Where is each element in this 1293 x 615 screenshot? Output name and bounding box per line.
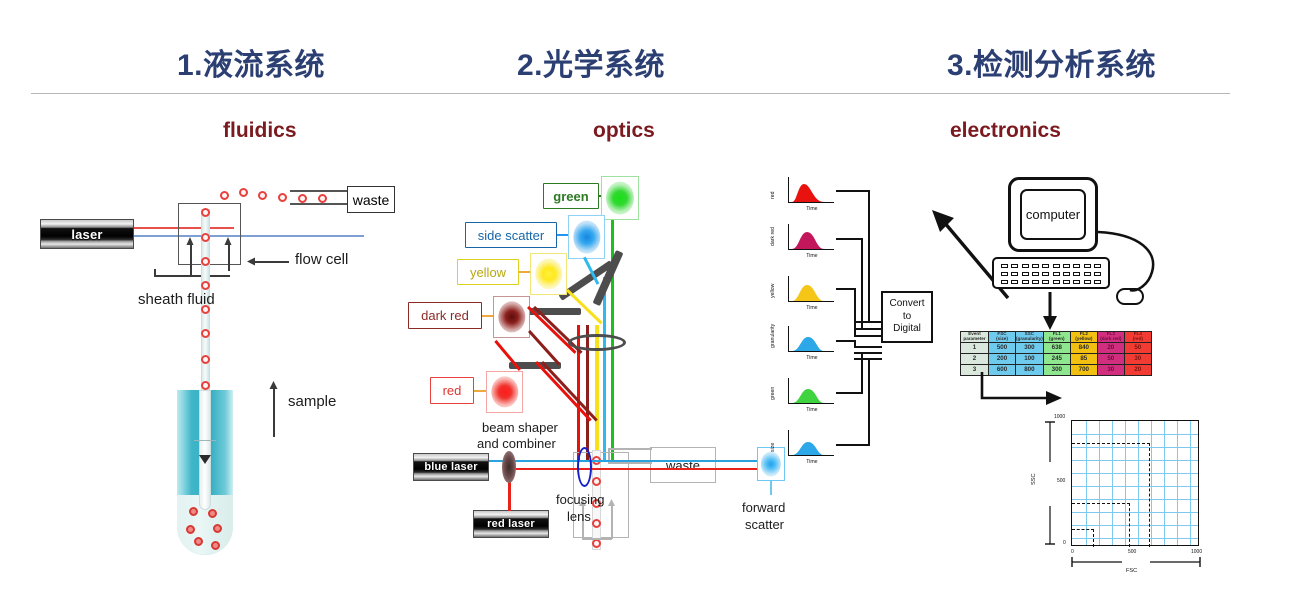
trace-peak — [791, 229, 825, 249]
computer-label: computer — [1026, 207, 1080, 222]
convert-to-digital-box: Convert to Digital — [881, 291, 933, 343]
table-header-row: Event parameter FSC (size) SSC (granular… — [961, 332, 1152, 343]
electronics-diagram: red Time dark red Time yellow Time — [780, 160, 1293, 610]
trace-peak — [791, 435, 825, 455]
y-tick-500: 500 — [1057, 478, 1065, 484]
x-axis-label: FSC — [1126, 568, 1137, 574]
detector-label-dark-red-text: dark red — [421, 308, 469, 323]
trace-peak — [791, 331, 825, 351]
collection-lens — [568, 334, 626, 351]
stream-cell — [201, 281, 210, 290]
bus-wire-2-v — [861, 238, 863, 328]
stream-cell — [201, 355, 210, 364]
event-parameter-table: Event parameter FSC (size) SSC (granular… — [960, 331, 1152, 376]
table-header-cell: FSC (size) — [989, 332, 1016, 343]
scatter-plot-group: 1000 500 0 SSC 0 500 1000 FSC — [1028, 410, 1228, 610]
trace-y-label: size — [770, 443, 776, 452]
table-header-cell: Event parameter — [961, 332, 989, 343]
x-tick-500: 500 — [1128, 549, 1136, 555]
sample-cell — [211, 541, 220, 550]
scatter-plot-area — [1071, 420, 1199, 546]
table-cell: 1 — [961, 343, 989, 354]
trace-x-label: Time — [806, 407, 817, 413]
subtitle-optics: optics — [593, 119, 655, 143]
trace-y-label: dark red — [770, 227, 776, 246]
y-axis-label: SSC — [1031, 473, 1037, 485]
detector-dark-red[interactable] — [493, 296, 530, 338]
table-cell: 200 — [989, 354, 1016, 365]
waste-cell — [298, 194, 307, 203]
focusing-lens — [577, 447, 592, 487]
table-cell: 245 — [1043, 354, 1070, 365]
table-header-cell: FL1 (green) — [1043, 332, 1070, 343]
table-row: 1 500 300 638 840 20 50 — [961, 343, 1152, 354]
signal-trace-green: green Time — [788, 378, 834, 404]
header-line: (green) — [1049, 336, 1065, 341]
subtitle-fluidics: fluidics — [223, 119, 297, 143]
bus-wire-into-converter-5 — [854, 352, 882, 354]
detector-label-green-text: green — [553, 189, 588, 204]
stream-cell — [201, 208, 210, 217]
sample-cell — [194, 537, 203, 546]
detector-label-dark-red[interactable]: dark red — [408, 302, 482, 329]
sample-cell — [208, 509, 217, 518]
waste-tube-bottom — [290, 203, 348, 205]
sample-arrow-head — [268, 381, 280, 392]
detector-label-yellow-text: yellow — [470, 265, 506, 280]
table-cell: 30 — [1124, 354, 1151, 365]
optics-stream-cell — [592, 477, 601, 486]
sample-cell — [213, 524, 222, 533]
table-header-cell: FL2 (yellow) — [1070, 332, 1097, 343]
trace-peak — [791, 383, 825, 403]
table-cell: 2 — [961, 354, 989, 365]
gate-region-small[interactable] — [1072, 529, 1094, 547]
section-header-electronics-zh: 3.检测分析系统 — [947, 40, 1156, 84]
trace-x-label: Time — [806, 253, 817, 259]
detector-red[interactable] — [486, 371, 523, 413]
detector-yellow[interactable] — [530, 253, 567, 295]
detector-green[interactable] — [601, 176, 639, 220]
table-header-cell: FL4 (red) — [1124, 332, 1151, 343]
grid-line-v — [1151, 421, 1152, 545]
waste-cell — [220, 191, 229, 200]
stream-cell — [201, 233, 210, 242]
header-line: (yellow) — [1075, 336, 1092, 341]
mouse-cable — [1096, 230, 1166, 296]
trace-x-axis — [788, 202, 834, 203]
fluidics-diagram: laser — [30, 165, 430, 610]
signal-trace-dark-red: dark red Time — [788, 224, 834, 250]
optics-sheath-bottom — [582, 538, 612, 540]
trace-y-axis — [788, 378, 789, 404]
waste-container: waste — [347, 186, 395, 213]
waste-cell — [318, 194, 327, 203]
optics-waste-pipe-top — [608, 448, 652, 450]
flow-cell-arrow-head — [247, 256, 259, 267]
trace-x-axis — [788, 249, 834, 250]
header-line: (dark red) — [1100, 336, 1121, 341]
table-cell: 85 — [1070, 354, 1097, 365]
keyboard-row — [1001, 272, 1101, 276]
blue-laser-beam — [489, 460, 761, 462]
trace-peak — [791, 182, 825, 202]
trace-peak — [791, 281, 825, 301]
header-line: (red) — [1133, 336, 1143, 341]
signal-trace-size: size Time — [788, 430, 834, 456]
table-header-cell: SSC (granularity) — [1016, 332, 1044, 343]
convert-line-1: Convert — [889, 298, 924, 311]
beam-path-cyan — [603, 277, 606, 461]
beam-red-ascending — [535, 361, 592, 422]
beam-shaper-label-line1: beam shaper — [482, 420, 558, 435]
section-header-optics-zh: 2.光学系统 — [517, 40, 665, 84]
bus-wire-into-converter-1 — [854, 321, 882, 323]
focusing-lens-label-line1: focusing — [556, 492, 604, 507]
y-tick-0: 0 — [1063, 540, 1066, 546]
optics-sheath-right — [611, 505, 613, 539]
stream-cell — [201, 329, 210, 338]
beam-shaper-label-line2: and combiner — [477, 436, 556, 451]
trace-y-label: green — [770, 387, 776, 400]
header-row: 1.液流系统 2.光学系统 3.检测分析系统 — [0, 40, 1293, 88]
table-cell: 50 — [1124, 343, 1151, 354]
y-axis-extent-bar — [1044, 418, 1056, 550]
probe-direction-arrow — [197, 454, 213, 466]
table-header-cell: FL3 (dark red) — [1097, 332, 1124, 343]
grid-line-v — [1164, 421, 1165, 545]
trace-y-label: yellow — [770, 284, 776, 298]
signal-trace-yellow: yellow Time — [788, 276, 834, 302]
x-tick-1000: 1000 — [1191, 549, 1202, 555]
trace-x-axis — [788, 455, 834, 456]
slide-canvas: 1.液流系统 2.光学系统 3.检测分析系统 fluidics optics e… — [0, 0, 1293, 615]
sample-pointer-line — [273, 387, 275, 437]
sheath-feed-stub — [154, 269, 156, 276]
grid-line-v — [1190, 421, 1191, 545]
table-cell: 30 — [1097, 365, 1124, 376]
trace-x-axis — [788, 403, 834, 404]
table-cell: 300 — [1016, 343, 1044, 354]
optics-waste-box: waste — [650, 447, 716, 483]
bus-wire-2 — [836, 238, 863, 240]
table-cell: 700 — [1070, 365, 1097, 376]
header-line: parameter — [963, 336, 985, 341]
bus-wire-6-v — [868, 358, 870, 446]
trace-x-label: Time — [806, 206, 817, 212]
waste-cell — [278, 193, 287, 202]
optics-stream-cell — [592, 519, 601, 528]
laser-beam-blue — [134, 235, 364, 237]
waste-tube-top — [290, 190, 348, 192]
header-line: (granularity) — [1016, 336, 1043, 341]
trace-y-label: granularity — [770, 324, 776, 348]
x-axis-extent-bar — [1068, 556, 1204, 568]
bus-wire-1-v — [868, 190, 870, 321]
table-cell: 20 — [1097, 343, 1124, 354]
forward-scatter-connector — [770, 481, 772, 495]
detector-label-side-scatter-text: side scatter — [478, 228, 544, 243]
blue-laser-source: blue laser — [413, 453, 489, 481]
waste-cell — [239, 188, 248, 197]
bus-wire-4 — [836, 340, 856, 342]
stream-cell — [201, 381, 210, 390]
beam-darkred-ascending — [541, 361, 598, 422]
forward-scatter-label-line1: forward — [742, 500, 785, 515]
trace-y-axis — [788, 430, 789, 456]
subtitle-electronics: electronics — [950, 119, 1061, 143]
sample-cell — [189, 507, 198, 516]
probe-mark — [194, 440, 216, 441]
sheath-arrow-heads — [182, 237, 238, 249]
detector-side-scatter[interactable] — [568, 215, 605, 259]
grid-line-h — [1072, 434, 1198, 435]
trace-x-label: Time — [806, 305, 817, 311]
sheath-connector — [154, 275, 230, 277]
computer-keyboard — [992, 257, 1110, 289]
bus-wire-3 — [836, 288, 856, 290]
signal-trace-granularity: granularity Time — [788, 326, 834, 352]
laser-label: laser — [71, 227, 102, 242]
trace-x-label: Time — [806, 459, 817, 465]
header-line: (size) — [996, 336, 1008, 341]
focusing-lens-label-line2: lens — [567, 509, 591, 524]
trace-y-label: red — [770, 192, 776, 200]
computer-to-table-arrow — [1042, 292, 1058, 332]
detector-label-red-text: red — [443, 383, 462, 398]
trace-y-axis — [788, 224, 789, 250]
table-cell: 50 — [1097, 354, 1124, 365]
stream-cell — [201, 257, 210, 266]
section-header-fluidics-zh: 1.液流系统 — [177, 40, 325, 84]
x-tick-0: 0 — [1071, 549, 1074, 555]
connector-red — [474, 390, 486, 392]
forward-scatter-label-line2: scatter — [745, 517, 784, 532]
table-cell: 638 — [1043, 343, 1070, 354]
laser-source: laser — [40, 219, 134, 249]
keyboard-row — [1001, 264, 1101, 268]
computer-screen: computer — [1020, 189, 1086, 240]
convert-line-3: Digital — [893, 323, 921, 336]
trace-y-axis — [788, 276, 789, 302]
table-row: 2 200 100 245 85 50 30 — [961, 354, 1152, 365]
bus-wire-into-converter-6 — [854, 358, 882, 360]
keyboard-row — [1001, 280, 1101, 284]
detector-label-side-scatter[interactable]: side scatter — [465, 222, 557, 248]
sample-probe — [199, 390, 211, 510]
table-cell: 20 — [1124, 365, 1151, 376]
trace-x-label: Time — [806, 355, 817, 361]
red-laser-beam — [509, 468, 761, 470]
trace-y-axis — [788, 177, 789, 203]
converter-to-computer-arrow — [930, 208, 1012, 304]
flow-cell-label: flow cell — [295, 251, 348, 268]
table-cell: 840 — [1070, 343, 1097, 354]
optics-diagram: green side scatter yellow dark red — [405, 165, 805, 610]
blue-laser-label: blue laser — [424, 461, 477, 473]
waste-label: waste — [353, 192, 390, 208]
waste-cell — [258, 191, 267, 200]
bus-wire-5 — [836, 392, 863, 394]
trace-y-axis — [788, 326, 789, 352]
red-laser-label: red laser — [487, 518, 535, 530]
trace-x-axis — [788, 351, 834, 352]
optics-stream-cell — [592, 539, 601, 548]
grid-line-v — [1177, 421, 1178, 545]
bus-wire-into-converter-3 — [854, 335, 882, 337]
beam-shaper-combiner — [502, 451, 516, 483]
red-laser-source: red laser — [473, 510, 549, 538]
table-cell: 500 — [989, 343, 1016, 354]
bus-wire-1 — [836, 190, 870, 192]
beam-red-to-mirror — [494, 340, 521, 371]
sheath-fluid-label: sheath fluid — [138, 291, 215, 308]
bus-wire-into-converter-2 — [854, 328, 882, 330]
convert-line-2: to — [903, 311, 911, 324]
table-cell: 100 — [1016, 354, 1044, 365]
detector-label-green[interactable]: green — [543, 183, 599, 209]
detector-label-red[interactable]: red — [430, 377, 474, 404]
header-divider — [31, 93, 1230, 94]
computer-monitor: computer — [1008, 177, 1098, 252]
bus-wire-6 — [836, 444, 870, 446]
detector-label-yellow[interactable]: yellow — [457, 259, 519, 285]
sample-label: sample — [288, 393, 336, 410]
signal-trace-red: red Time — [788, 177, 834, 203]
bus-wire-into-converter-4 — [854, 346, 882, 348]
trace-x-axis — [788, 301, 834, 302]
sample-cell — [186, 525, 195, 534]
